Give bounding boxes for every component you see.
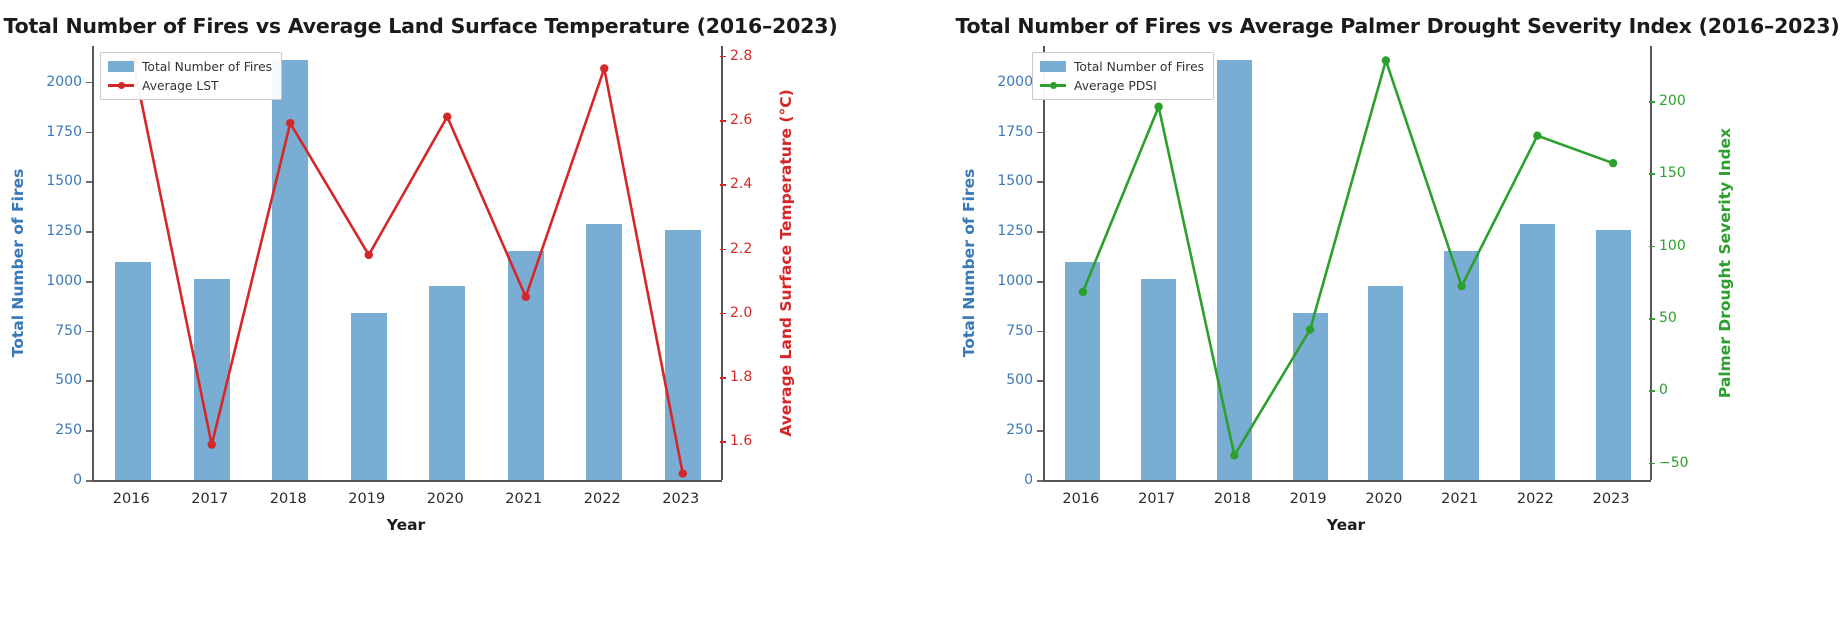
- x-tick-label-2016: 2016: [1062, 491, 1099, 507]
- y-tick-label-fires: 2000: [26, 74, 82, 90]
- y-tick-left: [1037, 380, 1043, 382]
- bar-slot: [408, 46, 487, 480]
- y-tick-label-secondary: 0: [1659, 382, 1668, 398]
- y-tick-label-fires: 250: [26, 422, 82, 438]
- y-tick-label-fires: 750: [26, 323, 82, 339]
- x-tick-label-2021: 2021: [1441, 491, 1478, 507]
- x-tick-label-2022: 2022: [1517, 491, 1554, 507]
- x-tick-label-2018: 2018: [1214, 491, 1251, 507]
- y-tick-left: [86, 82, 92, 84]
- bar-2021[interactable]: [1444, 251, 1479, 480]
- legend-bar-swatch-icon: [108, 61, 134, 72]
- y-tick-right: [1649, 318, 1655, 320]
- y-tick-left: [86, 331, 92, 333]
- y-tick-left: [1037, 281, 1043, 283]
- y-tick-label-fires: 1000: [977, 273, 1033, 289]
- x-tick-label-2020: 2020: [427, 491, 464, 507]
- bar-slot: [1575, 46, 1651, 480]
- bar-series-fires: [1045, 46, 1651, 480]
- x-tick-label-2023: 2023: [1593, 491, 1630, 507]
- legend-item-fires: Total Number of Fires: [1040, 58, 1204, 75]
- bar-series-fires: [94, 46, 722, 480]
- y-tick-left: [86, 480, 92, 482]
- bar-2017[interactable]: [1141, 279, 1176, 480]
- y-tick-label-secondary: 2.8: [730, 48, 752, 64]
- legend-label-fires: Total Number of Fires: [142, 60, 272, 74]
- y-tick-label-fires: 1250: [977, 223, 1033, 239]
- bar-2019[interactable]: [1293, 313, 1328, 480]
- y-tick-right: [1649, 101, 1655, 103]
- x-tick-label-2018: 2018: [270, 491, 307, 507]
- bar-slot: [644, 46, 723, 480]
- y-tick-right: [720, 441, 726, 443]
- y-tick-right: [1649, 390, 1655, 392]
- chart-title-pdsi: Total Number of Fires vs Average Palmer …: [937, 14, 1842, 38]
- y-axis-title-fires: Total Number of Fires: [960, 169, 978, 358]
- y-tick-left: [86, 380, 92, 382]
- bar-2016[interactable]: [115, 262, 151, 480]
- y-tick-left: [86, 430, 92, 432]
- x-tick-label-2019: 2019: [348, 491, 385, 507]
- y-tick-label-secondary: 150: [1659, 165, 1686, 181]
- bar-slot: [1197, 46, 1273, 480]
- y-tick-left: [86, 281, 92, 283]
- bar-2018[interactable]: [272, 60, 308, 480]
- figure-canvas: Total Number of Fires vs Average Land Su…: [0, 0, 1842, 640]
- y-tick-label-secondary: 2.0: [730, 305, 752, 321]
- x-axis-title-year: Year: [387, 516, 425, 534]
- y-tick-label-fires: 0: [26, 472, 82, 488]
- x-tick-label-2020: 2020: [1365, 491, 1402, 507]
- y-tick-label-secondary: 100: [1659, 238, 1686, 254]
- y-tick-right: [720, 120, 726, 122]
- y-tick-right: [720, 56, 726, 58]
- y-tick-label-secondary: 1.8: [730, 369, 752, 385]
- y-tick-right: [720, 249, 726, 251]
- y-tick-left: [1037, 132, 1043, 134]
- bar-slot: [173, 46, 252, 480]
- y-tick-label-fires: 1750: [26, 124, 82, 140]
- y-tick-label-secondary: 1.6: [730, 433, 752, 449]
- bar-2022[interactable]: [1520, 224, 1555, 480]
- y-tick-label-fires: 500: [26, 372, 82, 388]
- y-tick-left: [86, 132, 92, 134]
- x-tick-label-2016: 2016: [113, 491, 150, 507]
- legend-line-marker-icon: [1040, 80, 1066, 91]
- legend-line-marker-icon: [108, 80, 134, 91]
- legend-bar-swatch-icon: [1040, 61, 1066, 72]
- y-tick-left: [1037, 181, 1043, 183]
- bar-slot: [487, 46, 566, 480]
- bar-2016[interactable]: [1065, 262, 1100, 480]
- legend-item-fires: Total Number of Fires: [108, 58, 272, 75]
- bar-slot: [1348, 46, 1424, 480]
- chart-panel-pdsi: Total Number of Fires vs Average Palmer …: [921, 0, 1842, 640]
- y-tick-label-fires: 750: [977, 323, 1033, 339]
- y-tick-left: [1037, 480, 1043, 482]
- y-tick-label-secondary: 50: [1659, 310, 1677, 326]
- legend-item-pdsi: Average PDSI: [1040, 77, 1204, 94]
- bar-2020[interactable]: [429, 286, 465, 480]
- bar-2019[interactable]: [351, 313, 387, 480]
- legend-item-lst: Average LST: [108, 77, 272, 94]
- y-tick-right: [720, 377, 726, 379]
- y-tick-label-fires: 1000: [26, 273, 82, 289]
- y-tick-label-secondary: −50: [1659, 455, 1689, 471]
- x-tick-label-2017: 2017: [1138, 491, 1175, 507]
- x-tick-label-2022: 2022: [584, 491, 621, 507]
- bar-slot: [1424, 46, 1500, 480]
- bar-2017[interactable]: [194, 279, 230, 480]
- bar-slot: [94, 46, 173, 480]
- x-axis-title-year: Year: [1327, 516, 1365, 534]
- x-tick-label-2023: 2023: [662, 491, 699, 507]
- bar-slot: [251, 46, 330, 480]
- bar-2020[interactable]: [1368, 286, 1403, 480]
- y-tick-right: [1649, 173, 1655, 175]
- legend-label-pdsi: Average PDSI: [1074, 79, 1157, 93]
- y-tick-label-fires: 1500: [977, 173, 1033, 189]
- y-tick-right: [1649, 246, 1655, 248]
- y-tick-label-secondary: 200: [1659, 93, 1686, 109]
- y-tick-label-fires: 0: [977, 472, 1033, 488]
- y-tick-right: [720, 184, 726, 186]
- bar-slot: [330, 46, 409, 480]
- chart-panel-lst: Total Number of Fires vs Average Land Su…: [0, 0, 921, 640]
- y-tick-label-secondary: 2.6: [730, 112, 752, 128]
- bar-slot: [1045, 46, 1121, 480]
- y-tick-label-fires: 500: [977, 372, 1033, 388]
- x-tick-label-2019: 2019: [1290, 491, 1327, 507]
- bar-2018[interactable]: [1217, 60, 1252, 480]
- y-tick-label-secondary: 2.2: [730, 241, 752, 257]
- plot-area-lst: [92, 46, 722, 482]
- y-tick-left: [1037, 331, 1043, 333]
- x-tick-label-2021: 2021: [505, 491, 542, 507]
- legend-lst: Total Number of Fires Average LST: [100, 52, 282, 100]
- y-tick-left: [1037, 231, 1043, 233]
- y-tick-left: [86, 231, 92, 233]
- bar-slot: [1500, 46, 1576, 480]
- y-axis-title-fires: Total Number of Fires: [9, 169, 27, 358]
- y-tick-left: [1037, 430, 1043, 432]
- bar-2023[interactable]: [1596, 230, 1631, 480]
- bar-slot: [1272, 46, 1348, 480]
- y-tick-label-fires: 1500: [26, 173, 82, 189]
- y-axis-title-lst: Average Land Surface Temperature (°C): [777, 89, 795, 436]
- y-tick-label-fires: 250: [977, 422, 1033, 438]
- y-axis-title-pdsi: Palmer Drought Severity Index: [1716, 128, 1734, 398]
- y-tick-right: [720, 313, 726, 315]
- bar-slot: [565, 46, 644, 480]
- y-tick-label-fires: 2000: [977, 74, 1033, 90]
- y-tick-label-secondary: 2.4: [730, 176, 752, 192]
- legend-label-fires: Total Number of Fires: [1074, 60, 1204, 74]
- y-tick-left: [86, 181, 92, 183]
- chart-title-lst: Total Number of Fires vs Average Land Su…: [0, 14, 881, 38]
- y-tick-label-fires: 1750: [977, 124, 1033, 140]
- bar-2023[interactable]: [665, 230, 701, 480]
- legend-pdsi: Total Number of Fires Average PDSI: [1032, 52, 1214, 100]
- plot-area-pdsi: [1043, 46, 1651, 482]
- x-tick-label-2017: 2017: [191, 491, 228, 507]
- y-tick-right: [1649, 463, 1655, 465]
- legend-label-lst: Average LST: [142, 79, 219, 93]
- bar-2022[interactable]: [586, 224, 622, 480]
- bar-2021[interactable]: [508, 251, 544, 480]
- bar-slot: [1121, 46, 1197, 480]
- y-tick-label-fires: 1250: [26, 223, 82, 239]
